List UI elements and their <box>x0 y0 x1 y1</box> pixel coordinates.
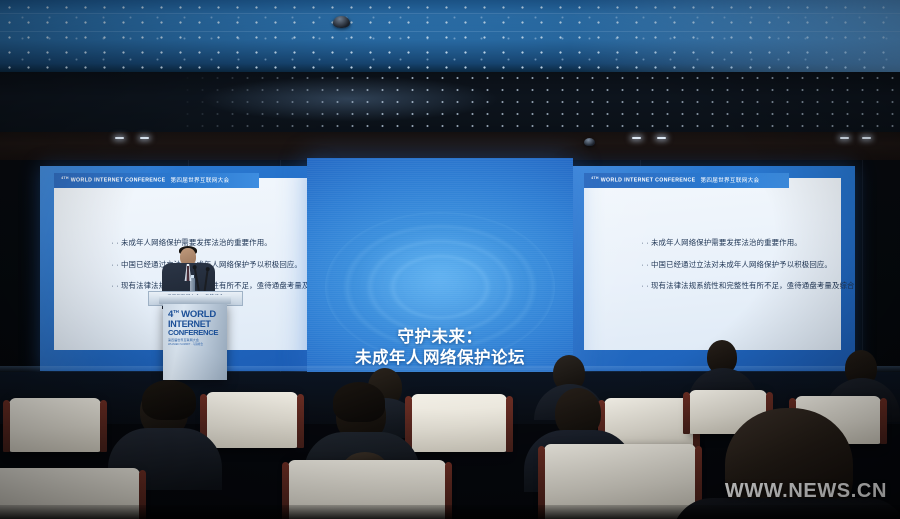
list-item: · 中国已经通过立法对未成年人网络保护予以积极回应。 <box>641 261 855 268</box>
right-banner-cn: 第四届世界互联网大会 <box>700 176 759 184</box>
ceiling-speaker-icon <box>584 138 595 146</box>
right-slide-bullets: · 未成年人网络保护需要发挥法治的重要作用。 · 中国已经通过立法对未成年人网络… <box>601 239 855 303</box>
center-glow <box>355 225 525 335</box>
podium: 4TH WORLD INTERNET CONFERENCE 第四届世界互联网大会… <box>163 302 227 380</box>
center-led-screen: 守护未来： 未成年人网络保护论坛 Safeguarding the Future… <box>307 158 573 380</box>
right-banner-en: 4TH WORLD INTERNET CONFERENCE <box>591 176 695 184</box>
left-slide-banner: 4TH WORLD INTERNET CONFERENCE 第四届世界互联网大会 <box>54 173 259 188</box>
left-banner-en: 4TH WORLD INTERNET CONFERENCE <box>61 176 165 184</box>
list-item: · 中国已经通过立法对未成年人网络保护予以积极回应。 <box>111 261 325 268</box>
ceiling-glow <box>570 0 900 72</box>
right-projection-screen: 4TH WORLD INTERNET CONFERENCE 第四届世界互联网大会… <box>570 166 855 371</box>
ceiling-lower <box>0 72 900 135</box>
left-banner-cn: 第四届世界互联网大会 <box>170 176 229 184</box>
news-watermark: WWW.NEWS.CN <box>725 480 887 503</box>
chair <box>9 398 101 452</box>
chair <box>411 394 507 452</box>
water-bottle <box>190 278 195 292</box>
ceiling-upper <box>0 0 900 72</box>
audience-head <box>333 382 385 422</box>
forum-title-cn-line2: 未成年人网络保护论坛 <box>307 349 573 367</box>
list-item: · 未成年人网络保护需要发挥法治的重要作用。 <box>641 239 855 246</box>
podium-top <box>159 295 231 304</box>
podium-logo-sub: WUZHEN SUMMIT · 乌镇峰会 <box>168 343 222 346</box>
list-item: · 未成年人网络保护需要发挥法治的重要作用。 <box>111 239 325 246</box>
list-item: · 现有法律法规系统性和完整性有所不足，亟待通盘考量及综合治理。 <box>641 282 855 289</box>
audience-head <box>142 380 196 420</box>
right-slide-banner: 4TH WORLD INTERNET CONFERENCE 第四届世界互联网大会 <box>584 173 789 188</box>
podium-logo-line3: CONFERENCE <box>168 329 222 337</box>
chair <box>206 392 298 448</box>
forum-title-cn-line1: 守护未来： <box>307 328 573 346</box>
podium-logo: 4TH WORLD INTERNET CONFERENCE 第四届世界互联网大会… <box>168 310 222 346</box>
conference-hall-photo: 4TH WORLD INTERNET CONFERENCE 第四届世界互联网大会… <box>0 0 900 519</box>
ripple-graphic <box>325 212 555 362</box>
foreground-shadow <box>0 505 900 519</box>
dome-camera-icon <box>333 16 350 28</box>
list-item: · 现有法律法规系统性和完整性有所不足，亟待通盘考量及综合治理。 <box>111 282 325 289</box>
ceiling-perforation-dots <box>180 72 900 129</box>
